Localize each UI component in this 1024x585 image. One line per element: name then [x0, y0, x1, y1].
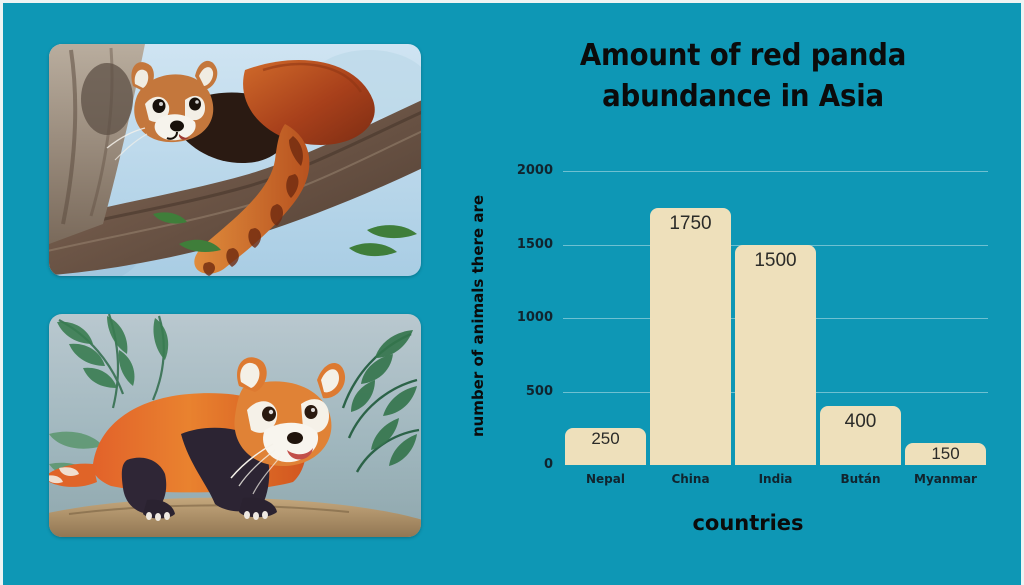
y-tick-label: 1000: [517, 310, 553, 325]
red-panda-on-branch-photo: [49, 44, 421, 276]
bar-china[interactable]: 1750: [650, 208, 731, 465]
bar-bután[interactable]: 400: [820, 406, 901, 465]
y-tick-label: 2000: [517, 163, 553, 178]
bar-india[interactable]: 1500: [735, 245, 816, 466]
bar-myanmar[interactable]: 150: [905, 443, 986, 465]
y-tick-label: 500: [526, 384, 553, 399]
bar-nepal[interactable]: 250: [565, 428, 646, 465]
red-panda-standing-photo: [49, 314, 421, 537]
page-title-line-1: Amount of red panda: [495, 35, 992, 76]
bars-group: 250Nepal1750China1500India400Bután150Mya…: [563, 171, 988, 465]
bar-value-label: 250: [591, 430, 619, 447]
gridline: 0: [563, 465, 988, 466]
bar-value-label: 400: [845, 412, 877, 431]
bar-value-label: 1500: [754, 251, 796, 270]
plot-area: 0500100015002000 250Nepal1750China1500In…: [563, 171, 988, 465]
bar-slot: 1750China: [650, 171, 731, 465]
bar-chart: number of animals there are 050010001500…: [473, 161, 1013, 541]
poster-canvas: Amount of red panda abundance in Asia nu…: [0, 0, 1024, 585]
bar-slot: 1500India: [735, 171, 816, 465]
y-axis-title: number of animals there are: [469, 161, 495, 471]
x-axis-title: countries: [528, 511, 968, 535]
y-tick-label: 1500: [517, 237, 553, 252]
y-tick-label: 0: [544, 457, 553, 472]
bar-value-label: 1750: [669, 214, 711, 233]
bar-slot: 400Bután: [820, 171, 901, 465]
bar-slot: 150Myanmar: [905, 171, 986, 465]
bar-slot: 250Nepal: [565, 171, 646, 465]
page-title-line-2: abundance in Asia: [495, 76, 992, 117]
bar-value-label: 150: [931, 445, 959, 462]
x-tick-label-myanmar: Myanmar: [893, 472, 998, 486]
page-title: Amount of red panda abundance in Asia: [495, 35, 992, 118]
